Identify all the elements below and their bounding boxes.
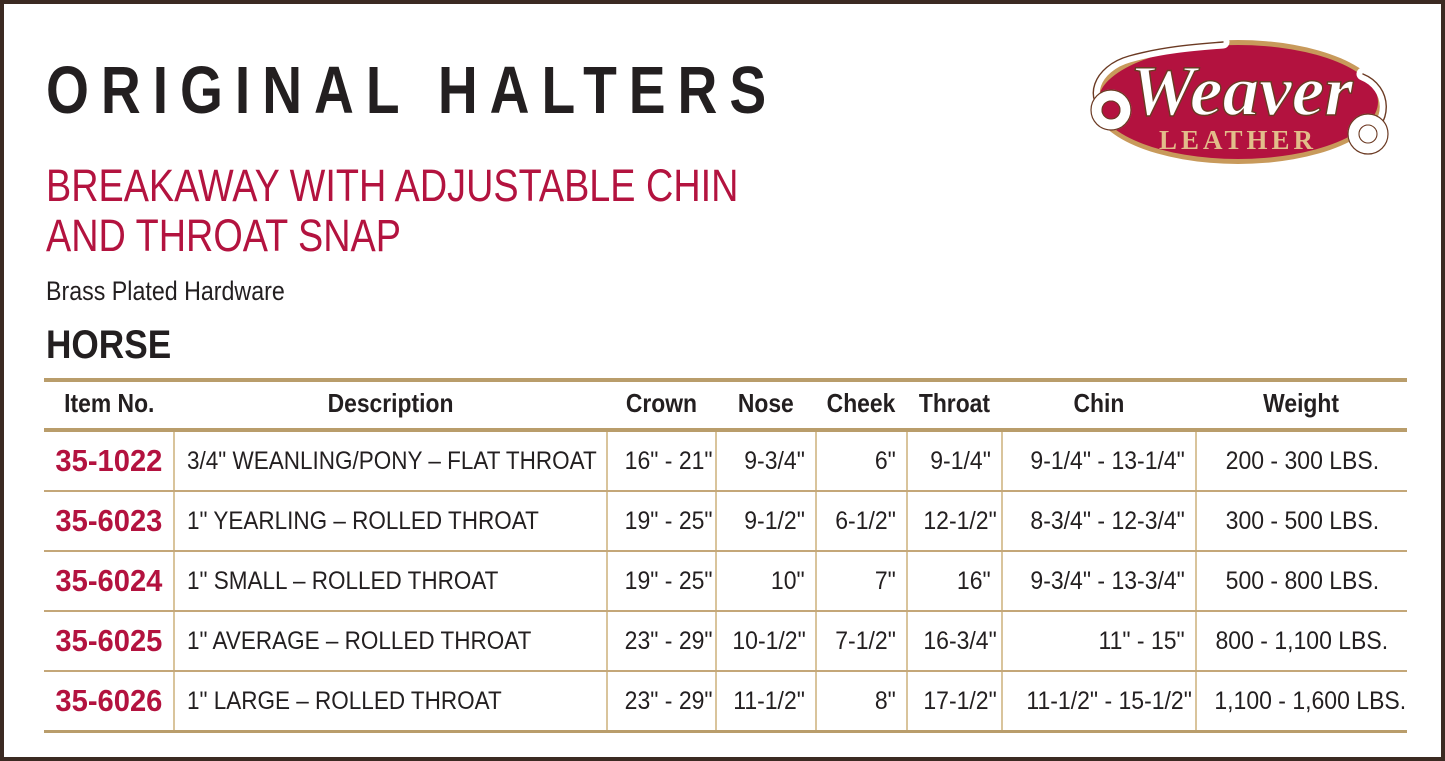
cell-nose: 9-3/4" xyxy=(716,430,816,491)
cell-crown: 16" - 21" xyxy=(607,430,716,491)
column-header-description: Description xyxy=(174,380,607,430)
cell-nose: 9-1/2" xyxy=(716,491,816,551)
table-body: 35-1022 3/4" WEANLING/PONY – FLAT THROAT… xyxy=(44,430,1407,732)
cell-nose: 10-1/2" xyxy=(716,611,816,671)
cell-weight: 200 - 300 LBS. xyxy=(1196,430,1407,491)
logo-tagline-text: LEATHER xyxy=(1159,125,1317,155)
cell-cheek: 7-1/2" xyxy=(816,611,907,671)
cell-weight: 800 - 1,100 LBS. xyxy=(1196,611,1407,671)
page-subtitle: BREAKAWAY WITH ADJUSTABLE CHIN AND THROA… xyxy=(46,161,738,261)
cell-throat: 16" xyxy=(907,551,1002,611)
column-header-weight: Weight xyxy=(1196,380,1407,430)
cell-throat: 12-1/2" xyxy=(907,491,1002,551)
cell-chin: 9-3/4" - 13-3/4" xyxy=(1002,551,1196,611)
cell-weight: 500 - 800 LBS. xyxy=(1196,551,1407,611)
cell-throat: 17-1/2" xyxy=(907,671,1002,732)
page-title: ORIGINAL HALTERS xyxy=(46,56,778,125)
cell-nose: 11-1/2" xyxy=(716,671,816,732)
cell-cheek: 7" xyxy=(816,551,907,611)
cell-throat: 9-1/4" xyxy=(907,430,1002,491)
column-header-nose: Nose xyxy=(716,380,816,430)
cell-item: 35-6024 xyxy=(44,551,174,611)
weaver-leather-logo: Weaver LEATHER xyxy=(1063,22,1413,187)
column-header-cheek: Cheek xyxy=(816,380,907,430)
table-row: 35-1022 3/4" WEANLING/PONY – FLAT THROAT… xyxy=(44,430,1407,491)
cell-item: 35-6025 xyxy=(44,611,174,671)
cell-crown: 23" - 29" xyxy=(607,671,716,732)
table-row: 35-6026 1" LARGE – ROLLED THROAT 23" - 2… xyxy=(44,671,1407,732)
page-subtitle-wrap: BREAKAWAY WITH ADJUSTABLE CHIN AND THROA… xyxy=(46,161,870,261)
table-row: 35-6023 1" YEARLING – ROLLED THROAT 19" … xyxy=(44,491,1407,551)
cell-throat: 16-3/4" xyxy=(907,611,1002,671)
group-heading: HORSE xyxy=(46,324,171,366)
page-title-wrap: ORIGINAL HALTERS xyxy=(46,56,842,118)
cell-crown: 19" - 25" xyxy=(607,551,716,611)
cell-chin: 8-3/4" - 12-3/4" xyxy=(1002,491,1196,551)
cell-item: 35-1022 xyxy=(44,430,174,491)
cell-weight: 1,100 - 1,600 LBS. xyxy=(1196,671,1407,732)
logo-svg: Weaver LEATHER xyxy=(1063,22,1413,187)
column-header-item: Item No. xyxy=(44,380,174,430)
table-row: 35-6025 1" AVERAGE – ROLLED THROAT 23" -… xyxy=(44,611,1407,671)
cell-chin: 9-1/4" - 13-1/4" xyxy=(1002,430,1196,491)
cell-crown: 23" - 29" xyxy=(607,611,716,671)
cell-crown: 19" - 25" xyxy=(607,491,716,551)
cell-description: 1" SMALL – ROLLED THROAT xyxy=(174,551,607,611)
cell-chin: 11" - 15" xyxy=(1002,611,1196,671)
column-header-throat: Throat xyxy=(907,380,1002,430)
column-header-chin: Chin xyxy=(1002,380,1196,430)
column-header-crown: Crown xyxy=(607,380,716,430)
cell-cheek: 6" xyxy=(816,430,907,491)
group-heading-wrap: HORSE xyxy=(46,324,188,366)
logo-brand-text: Weaver xyxy=(1130,51,1354,131)
halter-spec-table: Item No. Description Crown Nose Cheek Th… xyxy=(44,378,1407,733)
table-header: Item No. Description Crown Nose Cheek Th… xyxy=(44,380,1407,430)
table-row: 35-6024 1" SMALL – ROLLED THROAT 19" - 2… xyxy=(44,551,1407,611)
cell-item: 35-6023 xyxy=(44,491,174,551)
cell-weight: 300 - 500 LBS. xyxy=(1196,491,1407,551)
catalog-page: ORIGINAL HALTERS BREAKAWAY WITH ADJUSTAB… xyxy=(0,0,1445,761)
cell-cheek: 8" xyxy=(816,671,907,732)
cell-description: 1" LARGE – ROLLED THROAT xyxy=(174,671,607,732)
cell-cheek: 6-1/2" xyxy=(816,491,907,551)
table-header-row: Item No. Description Crown Nose Cheek Th… xyxy=(44,380,1407,430)
cell-description: 1" YEARLING – ROLLED THROAT xyxy=(174,491,607,551)
hardware-note-wrap: Brass Plated Hardware xyxy=(46,276,324,306)
cell-description: 3/4" WEANLING/PONY – FLAT THROAT xyxy=(174,430,607,491)
cell-chin: 11-1/2" - 15-1/2" xyxy=(1002,671,1196,732)
cell-description: 1" AVERAGE – ROLLED THROAT xyxy=(174,611,607,671)
cell-item: 35-6026 xyxy=(44,671,174,732)
cell-nose: 10" xyxy=(716,551,816,611)
hardware-note: Brass Plated Hardware xyxy=(46,276,285,306)
